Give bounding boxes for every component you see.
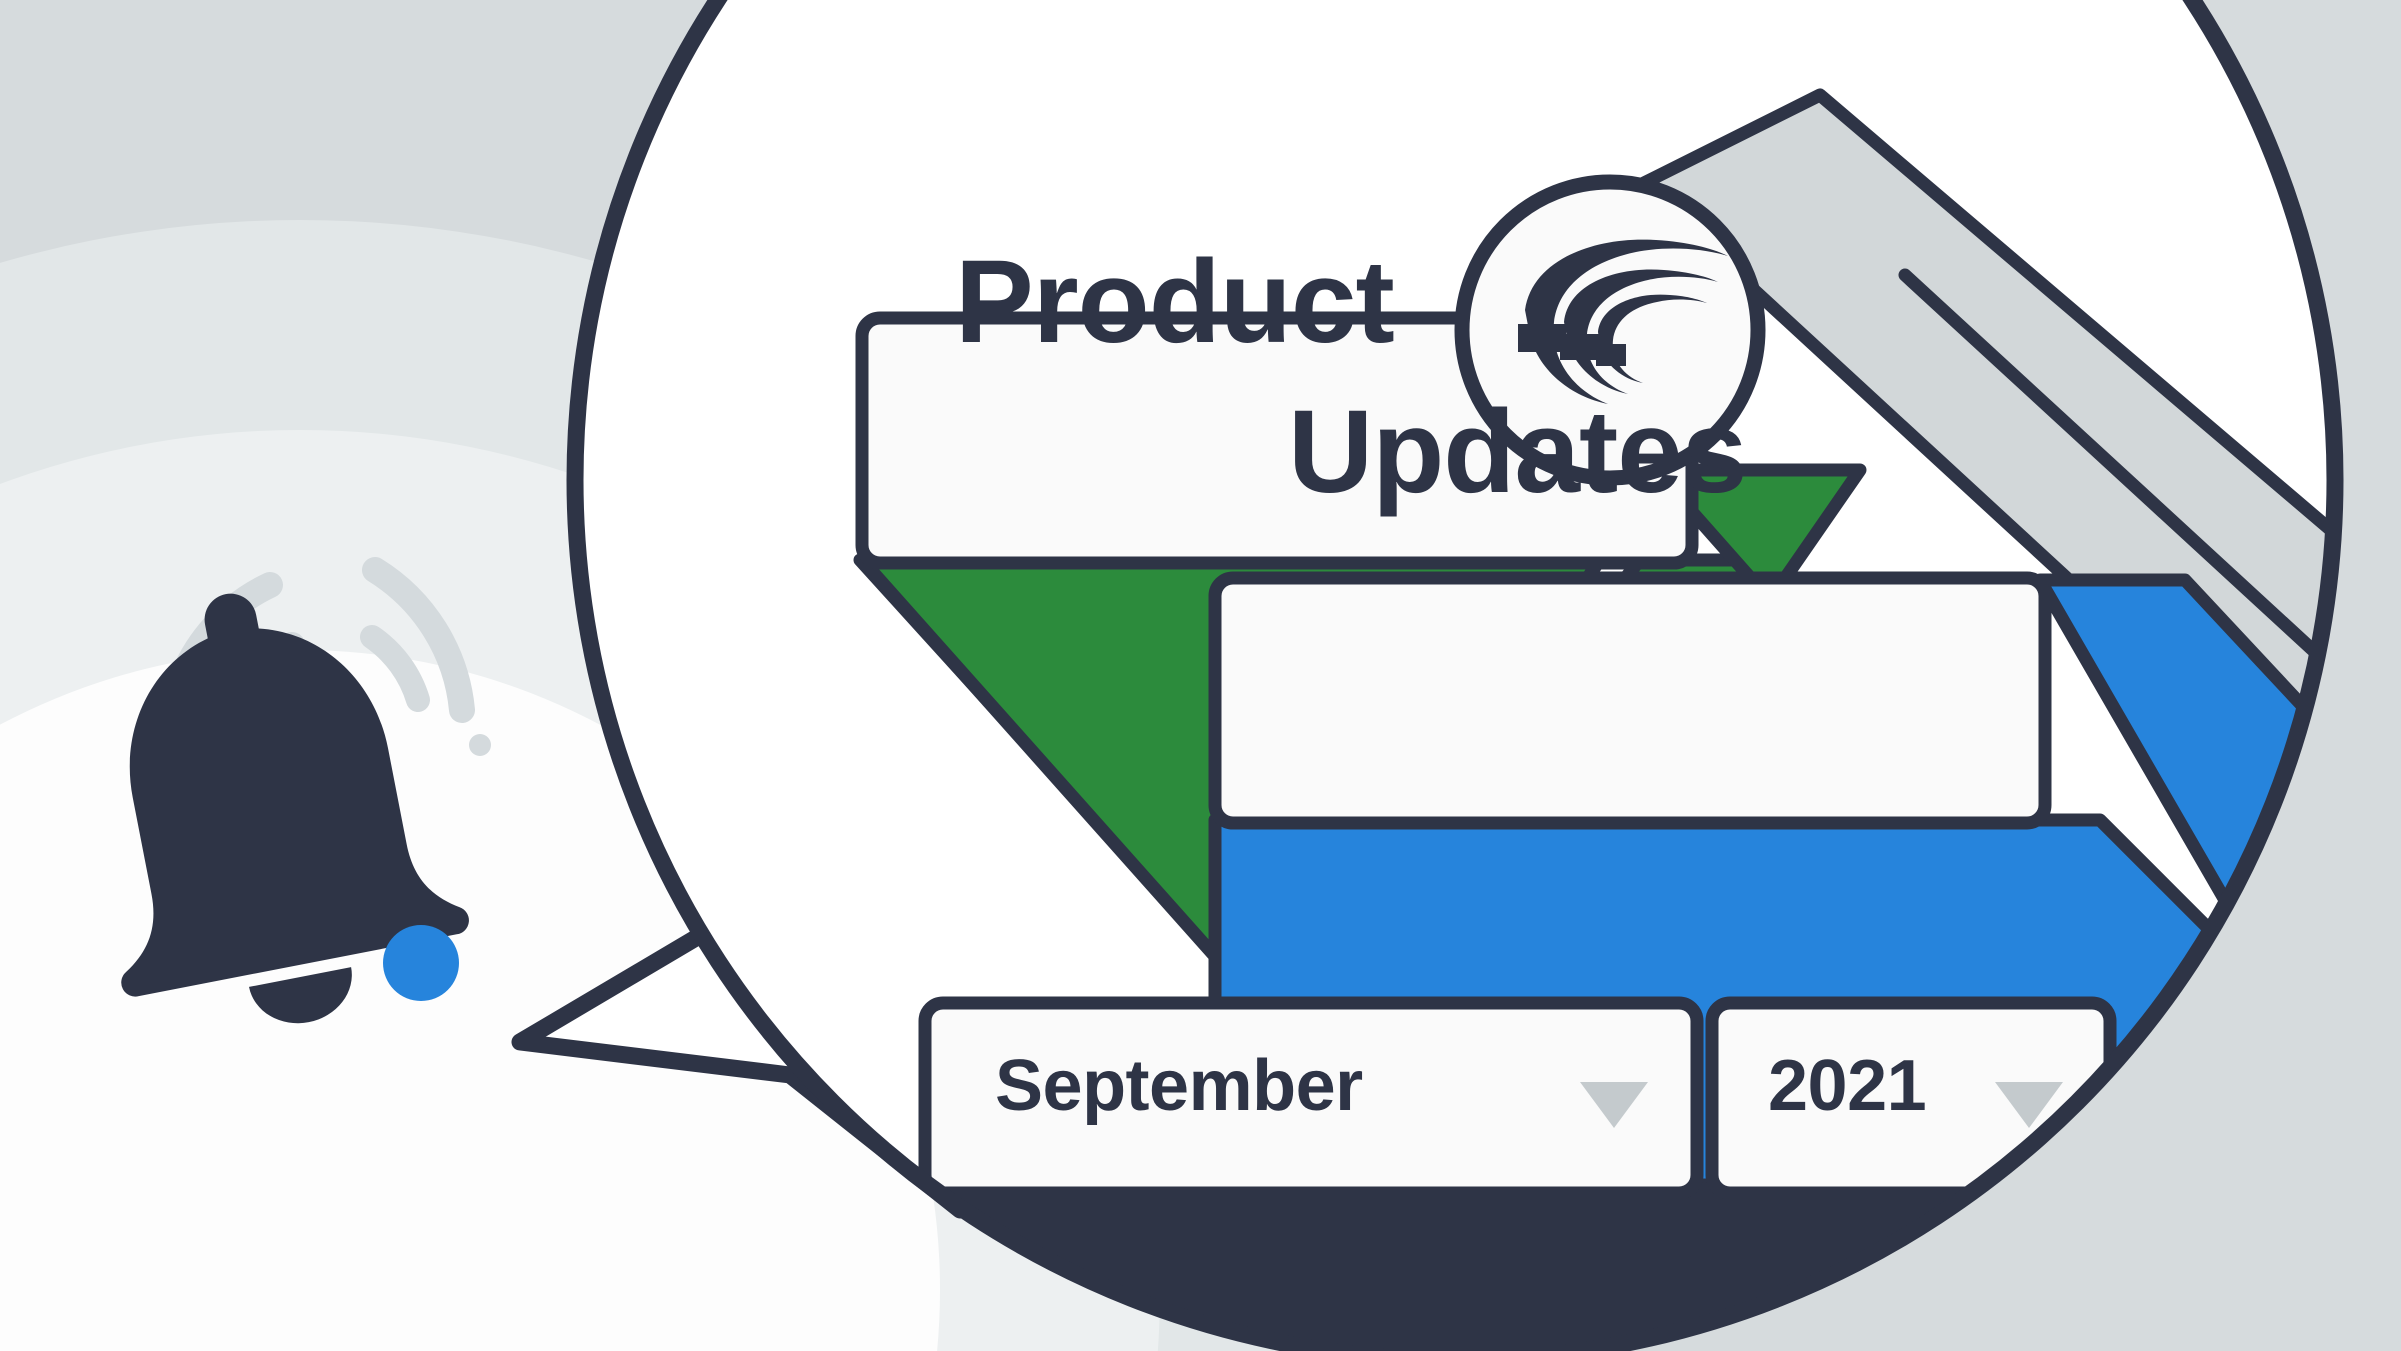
page-title-line2: Updates (1288, 393, 1747, 511)
year-filter-value[interactable]: 2021 (1768, 1050, 1926, 1122)
page-title-line1: Product (955, 243, 1394, 361)
month-filter-value[interactable]: September (995, 1050, 1363, 1122)
updates-title-card (1215, 578, 2045, 823)
banner-artwork (0, 0, 2401, 1351)
product-updates-banner: Product Updates September 2021 (0, 0, 2401, 1351)
bell-notification-dot (383, 925, 459, 1001)
bell-arc-dot (469, 734, 491, 756)
